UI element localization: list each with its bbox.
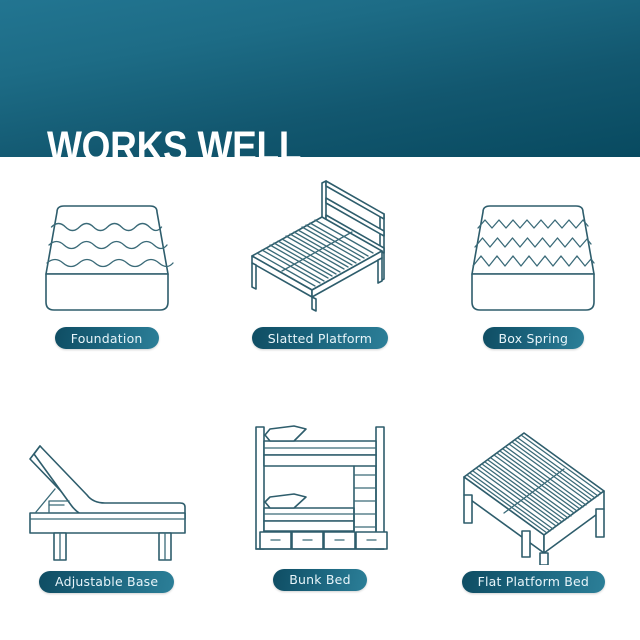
base-card-slatted-platform[interactable]: Slatted Platform [213, 157, 426, 399]
works-well-with-bases-poster: WORKS WELL WITH THESE BASES Foundation [0, 0, 640, 640]
base-card-flat-platform-bed[interactable]: Flat Platform Bed [427, 399, 640, 640]
box-spring-icon [443, 171, 623, 321]
mattress-foundation-icon [17, 171, 197, 321]
base-label-flat-platform-bed: Flat Platform Bed [462, 571, 606, 593]
base-card-bunk-bed[interactable]: Bunk Bed [213, 399, 426, 640]
base-label-slatted-platform: Slatted Platform [252, 327, 388, 349]
base-card-adjustable-base[interactable]: Adjustable Base [0, 399, 213, 640]
base-label-box-spring: Box Spring [483, 327, 585, 349]
base-card-foundation[interactable]: Foundation [0, 157, 213, 399]
header-banner: WORKS WELL WITH THESE BASES [0, 0, 640, 157]
bases-grid: Foundation [0, 157, 640, 640]
adjustable-base-icon [9, 413, 204, 565]
base-label-bunk-bed: Bunk Bed [273, 569, 366, 591]
bunk-bed-icon [230, 413, 410, 563]
slatted-platform-bed-icon [230, 171, 410, 321]
base-label-foundation: Foundation [55, 327, 159, 349]
base-label-adjustable-base: Adjustable Base [39, 571, 174, 593]
base-card-box-spring[interactable]: Box Spring [427, 157, 640, 399]
flat-platform-bed-icon [436, 413, 631, 565]
